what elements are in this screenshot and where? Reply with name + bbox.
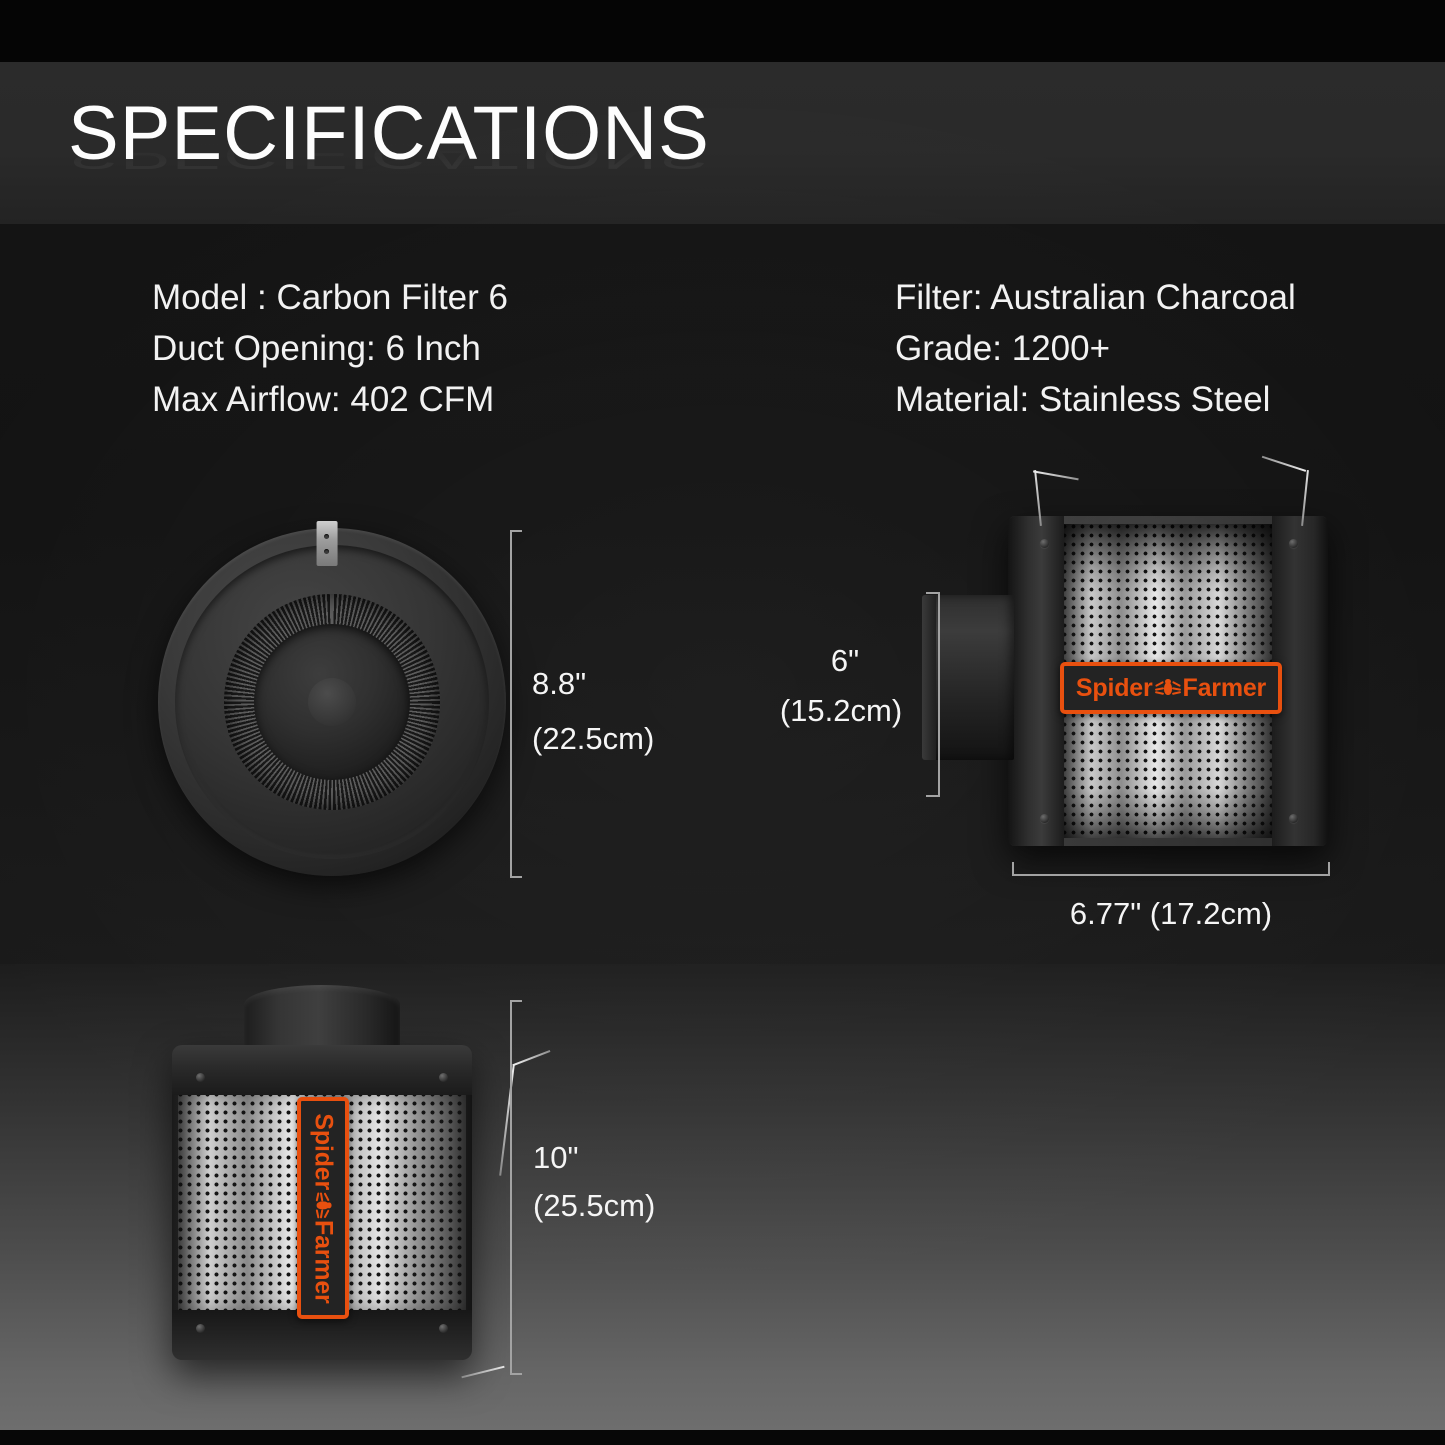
screw-icon bbox=[1040, 814, 1049, 823]
filter-end-cap-left bbox=[1008, 516, 1064, 846]
spec-model: Model : Carbon Filter 6 bbox=[152, 272, 508, 323]
brand-word-spider: Spider bbox=[1076, 674, 1153, 703]
dimension-label-side-width: 6.77" (17.2cm) bbox=[1012, 893, 1330, 934]
screw-icon bbox=[1040, 539, 1049, 548]
product-front-view bbox=[158, 528, 506, 876]
mesh-bottom-shading bbox=[1062, 788, 1273, 838]
screw-icon bbox=[1289, 814, 1298, 823]
brand-word-farmer: Farmer bbox=[1183, 674, 1267, 703]
dimension-label-duct-height-imperial: 6" bbox=[780, 640, 910, 681]
brand-logo-text: Spider Farmer bbox=[1076, 674, 1266, 703]
dimension-bracket-front-diameter bbox=[500, 530, 522, 878]
spec-column-right: Filter: Australian Charcoal Grade: 1200+… bbox=[895, 272, 1296, 425]
hanging-clip-icon bbox=[316, 521, 337, 566]
page-title-wrapper: SPECIFICATIONS SPECIFICATIONS bbox=[68, 96, 710, 172]
spec-grade: Grade: 1200+ bbox=[895, 323, 1296, 374]
spec-material: Material: Stainless Steel bbox=[895, 374, 1296, 425]
spec-column-left: Model : Carbon Filter 6 Duct Opening: 6 … bbox=[152, 272, 508, 425]
background-top-strip bbox=[0, 0, 1445, 62]
dimension-bracket-duct-height bbox=[918, 592, 940, 797]
dimension-bracket-side-width bbox=[1012, 862, 1330, 884]
brand-logo-text: Spider Farmer bbox=[309, 1113, 338, 1303]
screw-icon bbox=[439, 1073, 448, 1082]
screw-icon bbox=[196, 1324, 205, 1333]
brand-word-spider: Spider bbox=[309, 1113, 338, 1190]
dimension-bracket-body-height bbox=[500, 1000, 522, 1375]
screw-icon bbox=[196, 1073, 205, 1082]
spec-duct-opening: Duct Opening: 6 Inch bbox=[152, 323, 508, 374]
page-title: SPECIFICATIONS bbox=[68, 96, 710, 172]
screw-icon bbox=[1289, 539, 1298, 548]
spider-icon bbox=[312, 1192, 334, 1218]
dimension-label-duct-height-metric: (15.2cm) bbox=[766, 690, 916, 731]
dimension-label-front-diameter-imperial: 8.8" bbox=[532, 663, 586, 704]
specifications-page: SPECIFICATIONS SPECIFICATIONS Model : Ca… bbox=[0, 0, 1445, 1445]
dimension-label-front-diameter-metric: (22.5cm) bbox=[532, 718, 654, 759]
background-bottom-strip bbox=[0, 1430, 1445, 1445]
spider-icon bbox=[1155, 677, 1181, 699]
spec-max-airflow: Max Airflow: 402 CFM bbox=[152, 374, 508, 425]
mesh-top-shading bbox=[1062, 524, 1273, 593]
spec-filter: Filter: Australian Charcoal bbox=[895, 272, 1296, 323]
brand-logo-badge-horizontal: Spider Farmer bbox=[1060, 662, 1282, 714]
screw-icon bbox=[439, 1324, 448, 1333]
brand-logo-badge-vertical: Spider Farmer bbox=[297, 1097, 349, 1319]
filter-cap-top bbox=[172, 1045, 472, 1095]
dimension-label-body-height-metric: (25.5cm) bbox=[533, 1185, 655, 1226]
dimension-label-body-height-imperial: 10" bbox=[533, 1137, 579, 1178]
brand-word-farmer: Farmer bbox=[309, 1220, 338, 1304]
